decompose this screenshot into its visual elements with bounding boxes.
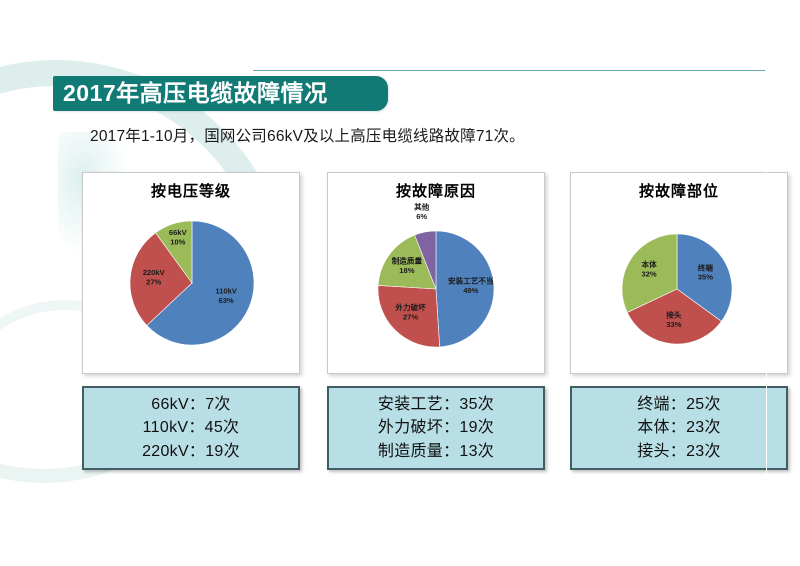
chart-panel-2: 按故障原因 安装工艺不当49%外力破坏27%制造质量18%其他6%	[327, 172, 545, 374]
caption-box-3: 终端：25次 本体：23次 接头：23次	[570, 386, 788, 470]
caption-box-1: 66kV：7次 110kV：45次 220kV：19次	[82, 386, 300, 470]
pie-chart-2: 安装工艺不当49%外力破坏27%制造质量18%其他6%	[328, 201, 546, 359]
slide-canvas: 2017年高压电缆故障情况 2017年1-10月，国网公司66kV及以上高压电缆…	[0, 0, 800, 566]
caption-line: 安装工艺：35次	[378, 393, 494, 416]
page-right-edge	[766, 0, 767, 566]
subtitle-text: 2017年1-10月，国网公司66kV及以上高压电缆线路故障71次。	[90, 124, 525, 146]
chart-panel-1: 按电压等级 110kV63%220kV27%66kV10%	[82, 172, 300, 374]
pie-wrap-2: 安装工艺不当49%外力破坏27%制造质量18%其他6%	[328, 201, 544, 359]
caption-box-2: 安装工艺：35次 外力破坏：19次 制造质量：13次	[327, 386, 545, 470]
pie-chart-3: 终端35%接头33%本体32%	[571, 201, 789, 359]
pie-slice-label: 终端35%	[698, 262, 714, 281]
title-banner: 2017年高压电缆故障情况	[53, 76, 388, 111]
pie-chart-1: 110kV63%220kV27%66kV10%	[83, 201, 301, 359]
caption-line: 220kV：19次	[142, 440, 240, 463]
pie-wrap-3: 终端35%接头33%本体32%	[571, 201, 787, 359]
caption-line: 终端：25次	[637, 393, 721, 416]
pie-slice-label: 接头33%	[666, 310, 682, 329]
column-fault-location: 按故障部位 终端35%接头33%本体32% 终端：25次 本体：23次 接头：2…	[570, 172, 788, 470]
page-title: 2017年高压电缆故障情况	[53, 82, 328, 105]
column-fault-cause: 按故障原因 安装工艺不当49%外力破坏27%制造质量18%其他6% 安装工艺：3…	[327, 172, 545, 470]
caption-line: 接头：23次	[637, 440, 721, 463]
header-divider-line	[253, 70, 765, 71]
pie-wrap-1: 110kV63%220kV27%66kV10%	[83, 201, 299, 359]
pie-slice-label: 其他6%	[414, 202, 430, 221]
chart-title-3: 按故障部位	[571, 173, 787, 201]
caption-line: 66kV：7次	[151, 393, 230, 416]
caption-line: 制造质量：13次	[378, 440, 494, 463]
chart-title-1: 按电压等级	[83, 173, 299, 201]
chart-title-2: 按故障原因	[328, 173, 544, 201]
caption-line: 110kV：45次	[143, 416, 240, 439]
pie-slice-label: 本体32%	[641, 259, 657, 278]
caption-line: 外力破坏：19次	[378, 416, 494, 439]
chart-panel-3: 按故障部位 终端35%接头33%本体32%	[570, 172, 788, 374]
caption-line: 本体：23次	[637, 416, 721, 439]
pie-slice-label: 66kV10%	[169, 228, 188, 246]
column-voltage-level: 按电压等级 110kV63%220kV27%66kV10% 66kV：7次 11…	[82, 172, 300, 470]
